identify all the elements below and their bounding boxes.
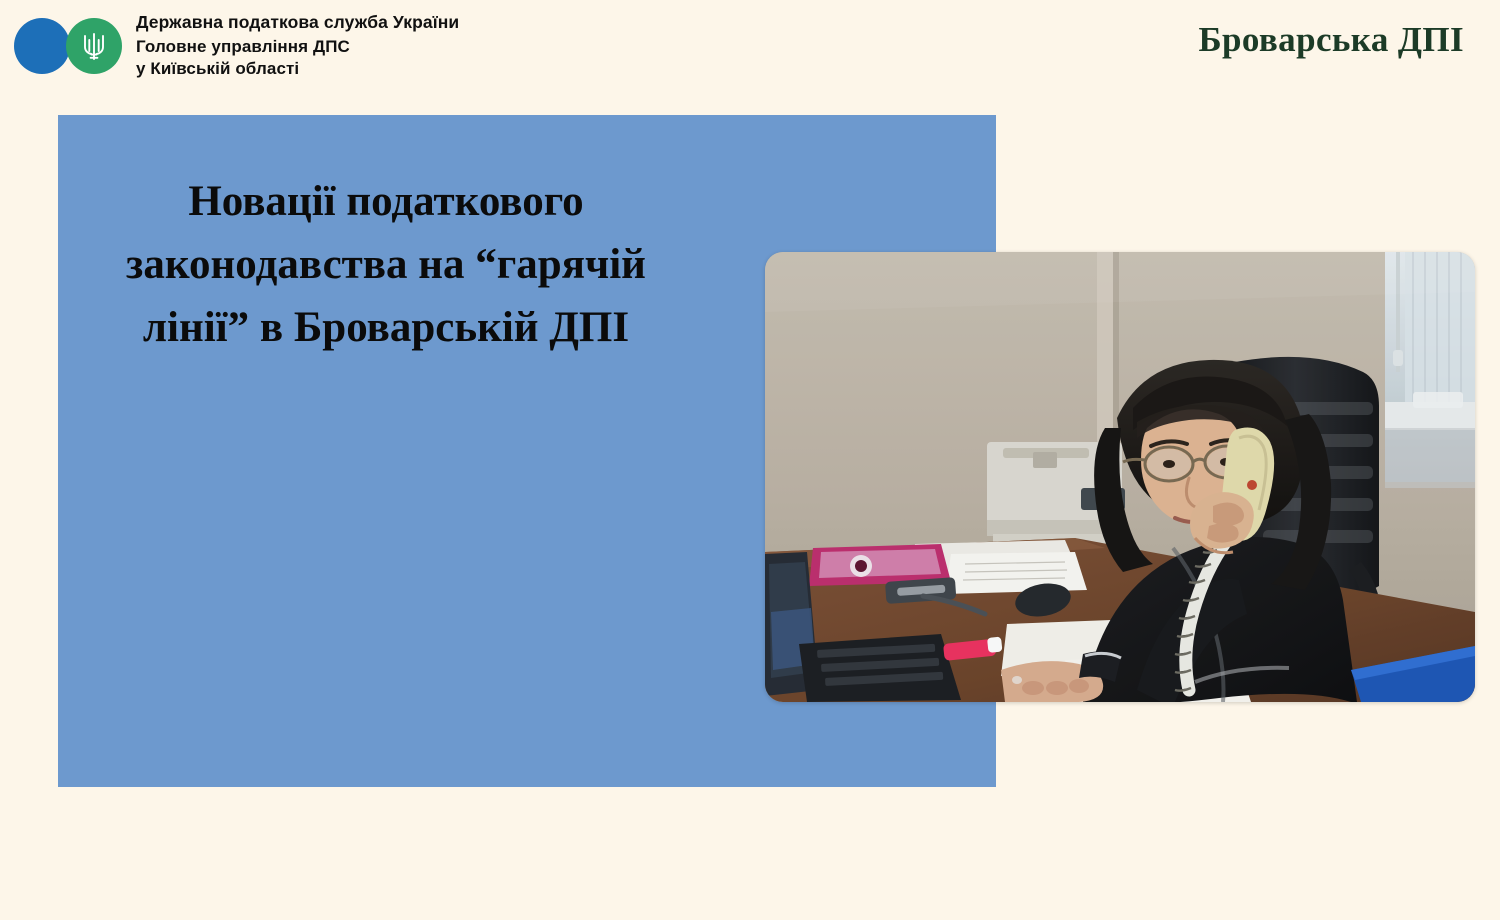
agency-name-line2: Головне управління ДПС — [136, 36, 459, 58]
branch-title: Броварська ДПІ — [1198, 20, 1464, 60]
agency-name-block: Державна податкова служба України Головн… — [136, 11, 459, 80]
blue-circle-icon — [14, 18, 70, 74]
trident-emblem-icon — [66, 18, 122, 74]
agency-name-line3: у Київській області — [136, 58, 459, 80]
poster-page: Державна податкова служба України Головн… — [0, 0, 1500, 920]
page-footer: kyivobl.tax.gov.ua facebook.com/tax.kyiv… — [0, 800, 1500, 920]
agency-name-line1: Державна податкова служба України — [136, 11, 459, 33]
page-header: Державна податкова служба України Головн… — [0, 0, 1500, 92]
page-title: Новації податкового законодавства на “га… — [86, 170, 686, 360]
office-photo — [765, 252, 1475, 702]
agency-logo — [14, 12, 132, 76]
